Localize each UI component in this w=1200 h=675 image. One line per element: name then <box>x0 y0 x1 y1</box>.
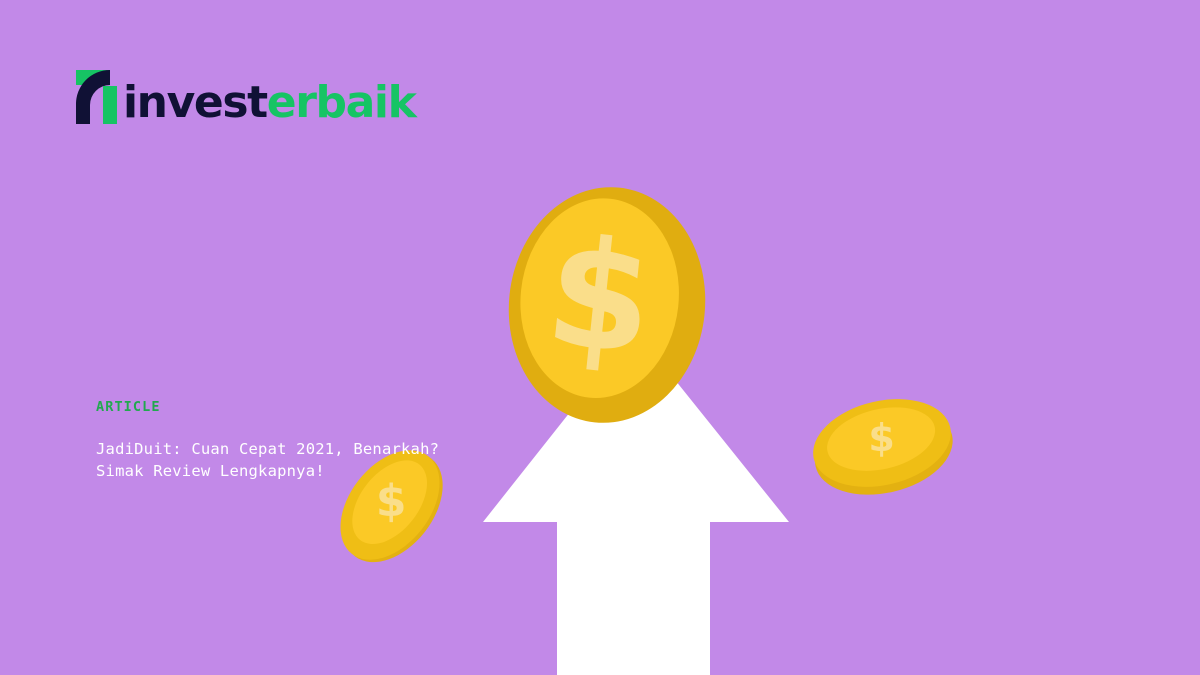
coin-small-right: $ <box>804 386 961 507</box>
wordmark-part-one: invest <box>123 77 267 128</box>
coin-large-symbol: $ <box>539 205 661 389</box>
article-category-label: ARTICLE <box>96 398 616 416</box>
article-card-canvas: $ $ $ investerbai <box>0 0 1200 675</box>
article-title: JadiDuit: Cuan Cepat 2021, Benarkah? Sim… <box>96 438 616 482</box>
investerbaik-logo-mark-icon <box>76 70 122 124</box>
coin-small-left-symbol: $ <box>376 475 407 526</box>
coin-small-right-symbol: $ <box>868 416 894 460</box>
brand-logo[interactable]: investerbaik <box>76 62 415 124</box>
wordmark-part-two: erbaik <box>267 77 416 128</box>
article-text-block: ARTICLE JadiDuit: Cuan Cepat 2021, Benar… <box>96 398 616 482</box>
brand-wordmark: investerbaik <box>123 80 415 126</box>
